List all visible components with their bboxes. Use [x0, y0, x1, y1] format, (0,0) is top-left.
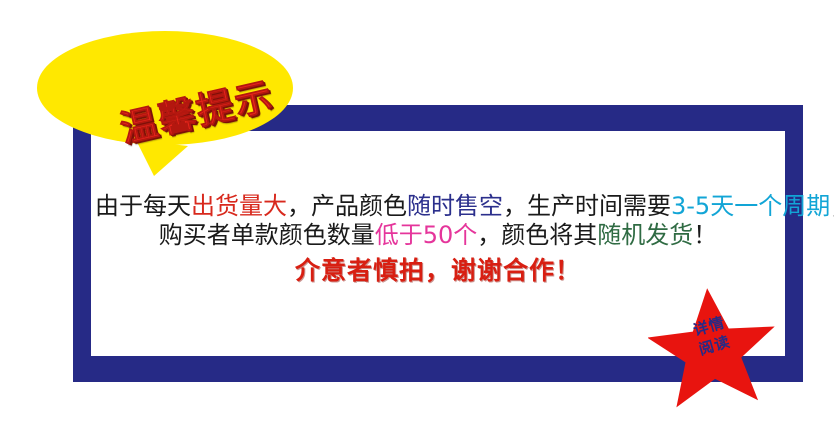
notice-banner: 温馨提示 由于每天出货量大，产品颜色随时售空，生产时间需要3-5天一个周期， 购… — [0, 0, 834, 435]
line1-segment-plain-3: ，生产时间需要 — [503, 192, 671, 220]
line1-segment-plain-1: 由于每天 — [95, 192, 191, 220]
line2-segment-plain-2: ，颜色将其 — [477, 221, 597, 249]
notice-line-2: 购买者单款颜色数量低于50个，颜色将其随机发货！ — [95, 221, 781, 250]
notice-message-block: 由于每天出货量大，产品颜色随时售空，生产时间需要3-5天一个周期， 购买者单款颜… — [95, 192, 781, 286]
line2-segment-highlight-random-shipping: 随机发货 — [597, 221, 693, 249]
read-details-star-badge[interactable]: 详情 阅读 — [648, 286, 776, 408]
notice-line-3-warning: 介意者慎拍，谢谢合作！ — [95, 256, 781, 287]
line1-segment-highlight-lead-time: 3-5天一个周期 — [671, 192, 830, 220]
line1-segment-highlight-shipping-volume: 出货量大 — [191, 192, 287, 220]
line1-segment-highlight-sold-out: 随时售空 — [407, 192, 503, 220]
notice-line-1: 由于每天出货量大，产品颜色随时售空，生产时间需要3-5天一个周期， — [95, 192, 781, 221]
line2-segment-highlight-minimum-quantity: 低于50个 — [375, 221, 478, 249]
frame-border-right — [785, 105, 803, 382]
line2-segment-plain-3: ！ — [693, 221, 717, 249]
star-icon — [648, 286, 776, 408]
line1-segment-plain-2: ，产品颜色 — [287, 192, 407, 220]
line2-segment-plain-1: 购买者单款颜色数量 — [159, 221, 375, 249]
line1-segment-plain-4: ， — [830, 192, 834, 220]
speech-bubble: 温馨提示 — [36, 28, 294, 178]
